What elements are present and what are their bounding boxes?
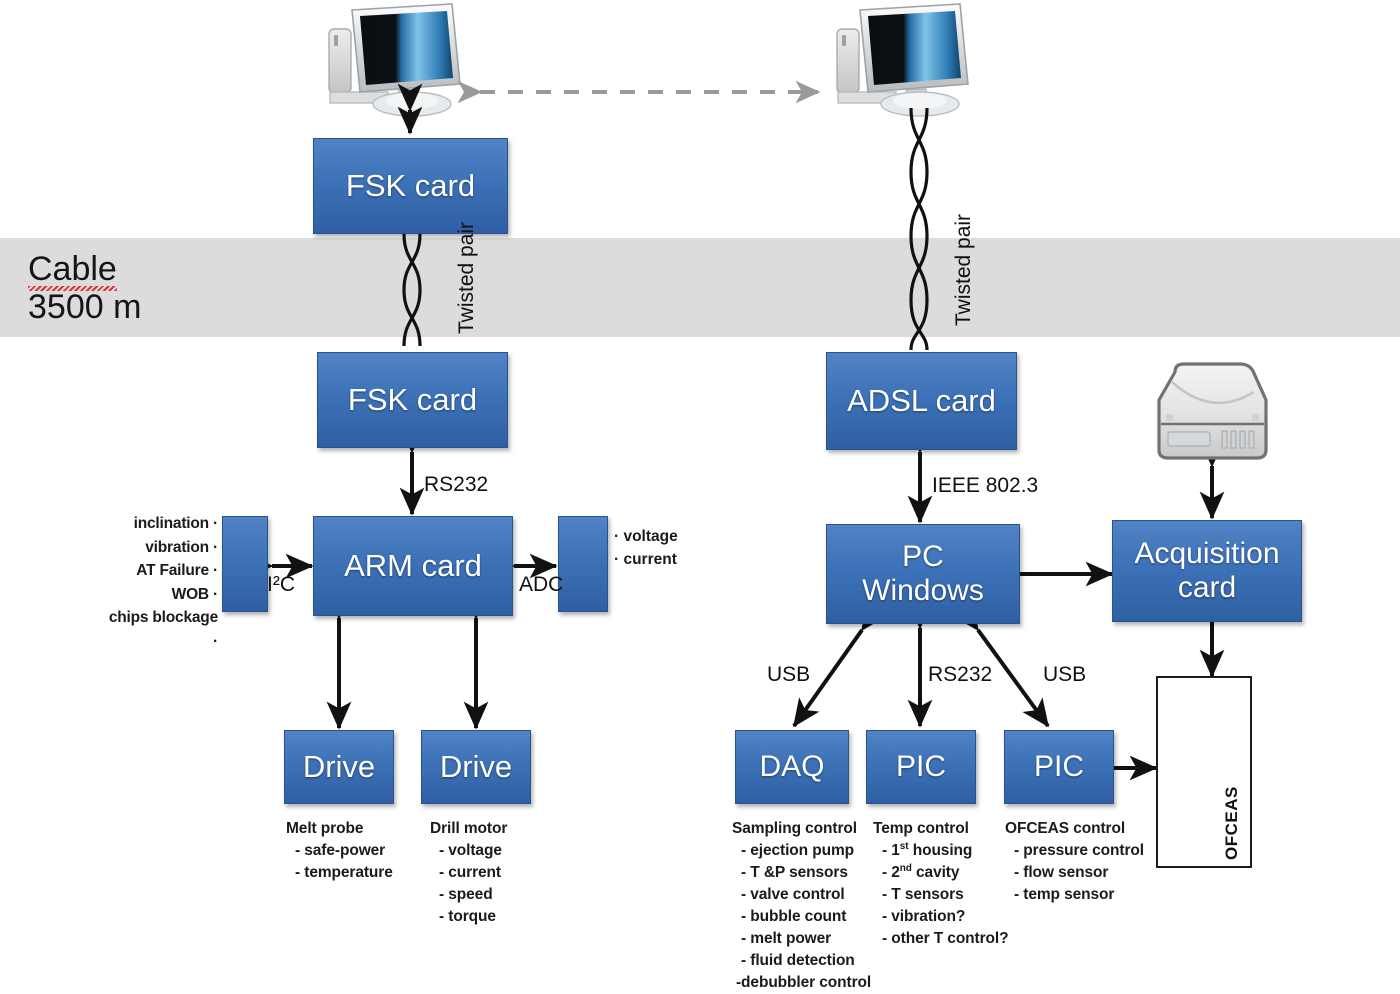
node-label: FSK card [348, 383, 477, 418]
link-label-ieee8023: IEEE 802.3 [932, 474, 1038, 498]
acquisition-card-line2: card [1178, 571, 1236, 604]
caption-daq: Sampling control - ejection pump - T &P … [732, 818, 871, 994]
node-label: FSK card [346, 169, 475, 204]
caption-item-0: - safe-power [286, 840, 393, 862]
caption-drive-drill-motor: Drill motor - voltage - current - speed … [430, 818, 507, 928]
link-label-twisted-pair-right: Twisted pair [952, 214, 976, 326]
node-drive-drill-motor[interactable]: Drive [421, 730, 531, 804]
caption-item-6: -debubbler control [732, 972, 871, 994]
link-label-i2c: I²C [267, 573, 295, 597]
caption-item-1: - temperature [286, 862, 393, 884]
caption-item-0: - 1st housing [873, 840, 1009, 862]
cable-label-line1: Cable [28, 250, 117, 288]
caption-arm-outputs: · voltage · current [614, 525, 678, 572]
node-sensor-output-box[interactable] [558, 516, 608, 612]
caption-header: Melt probe [286, 818, 393, 840]
caption-pic-temp: Temp control - 1st housing - 2nd cavity … [873, 818, 1009, 950]
node-daq[interactable]: DAQ [735, 730, 849, 804]
cable-label-line2: 3500 m [28, 288, 141, 326]
node-acquisition-card[interactable]: Acquisition card [1112, 520, 1302, 622]
computer-monitor-icon-right [837, 4, 968, 116]
node-arm-card[interactable]: ARM card [313, 516, 513, 616]
link-label-rs232-left: RS232 [424, 473, 488, 497]
node-label: Drive [303, 750, 375, 785]
link-label-twisted-pair-left: Twisted pair [455, 222, 479, 334]
caption-item-1: - current [430, 862, 507, 884]
caption-pic-ofceas: OFCEAS control - pressure control - flow… [1005, 818, 1144, 906]
node-label: PIC [1034, 750, 1084, 784]
caption-item-0: - ejection pump [732, 840, 871, 862]
caption-item-3: - bubble count [732, 906, 871, 928]
link-label-usb-pic: USB [1043, 663, 1086, 687]
node-label: ADSL card [847, 384, 996, 419]
node-label: PIC [896, 750, 946, 784]
link-label-adc: ADC [519, 573, 563, 597]
caption-item-2: - temp sensor [1005, 884, 1144, 906]
caption-arm-inputs: inclination · vibration · AT Failure · W… [100, 512, 218, 653]
caption-item-2: - speed [430, 884, 507, 906]
caption-item-1: - T &P sensors [732, 862, 871, 884]
node-label: DAQ [759, 750, 824, 784]
acquisition-card-line1: Acquisition [1134, 537, 1279, 570]
arm-input-2: AT Failure · [100, 559, 218, 583]
pc-windows-line2: Windows [862, 574, 984, 607]
caption-header: Drill motor [430, 818, 507, 840]
node-pic-temp[interactable]: PIC [866, 730, 976, 804]
caption-item-1: - flow sensor [1005, 862, 1144, 884]
caption-header: Temp control [873, 818, 1009, 840]
caption-item-3: - torque [430, 906, 507, 928]
node-label: PC Windows [862, 540, 984, 607]
node-fsk-card-bottom[interactable]: FSK card [317, 352, 508, 448]
arm-input-0: inclination · [100, 512, 218, 536]
link-label-usb-daq: USB [767, 663, 810, 687]
caption-item-5: - fluid detection [732, 950, 871, 972]
caption-drive-melt-probe: Melt probe - safe-power - temperature [286, 818, 393, 884]
caption-item-4: - other T control? [873, 928, 1009, 950]
ofceas-vertical-label: OFCEAS [1222, 786, 1242, 860]
node-drive-melt-probe[interactable]: Drive [284, 730, 394, 804]
arm-output-1: · current [614, 548, 678, 571]
caption-header: OFCEAS control [1005, 818, 1144, 840]
arm-input-3: WOB · [100, 583, 218, 607]
caption-item-4: - melt power [732, 928, 871, 950]
pc-windows-line1: PC [902, 540, 944, 573]
caption-item-2: - T sensors [873, 884, 1009, 906]
node-sensor-input-box[interactable] [222, 516, 268, 612]
node-fsk-card-top[interactable]: FSK card [313, 138, 508, 234]
caption-header: Sampling control [732, 818, 871, 840]
arm-output-0: · voltage [614, 525, 678, 548]
caption-item-1: - 2nd cavity [873, 862, 1009, 884]
node-pic-ofceas[interactable]: PIC [1004, 730, 1114, 804]
node-adsl-card[interactable]: ADSL card [826, 352, 1017, 450]
node-label: Drive [440, 750, 512, 785]
diagram-canvas: Cable 3500 m [0, 0, 1400, 975]
caption-item-3: - vibration? [873, 906, 1009, 928]
node-pc-windows[interactable]: PC Windows [826, 524, 1020, 624]
cable-label: Cable 3500 m [28, 250, 248, 326]
node-label: ARM card [344, 549, 482, 584]
arm-input-4: chips blockage · [100, 606, 218, 653]
caption-item-2: - valve control [732, 884, 871, 906]
arm-input-1: vibration · [100, 536, 218, 560]
link-label-rs232-pic: RS232 [928, 663, 992, 687]
caption-item-0: - pressure control [1005, 840, 1144, 862]
hard-drive-icon [1159, 364, 1266, 458]
node-label: Acquisition card [1134, 537, 1279, 604]
spellcheck-underline [28, 286, 117, 291]
caption-item-0: - voltage [430, 840, 507, 862]
computer-monitor-icon-left [329, 4, 460, 116]
